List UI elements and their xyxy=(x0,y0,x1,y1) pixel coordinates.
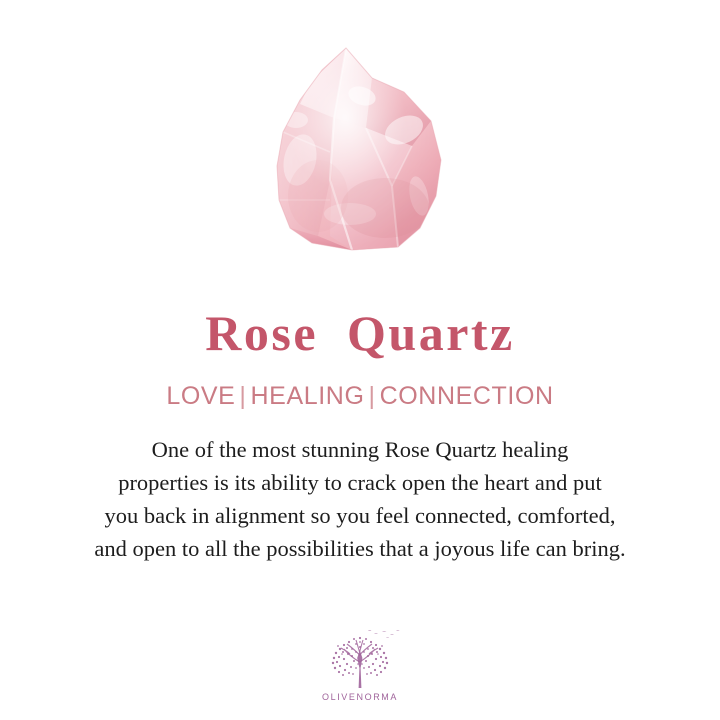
page-title: Rose Quartz xyxy=(205,282,515,358)
keyword-subtitle: LOVE|HEALING|CONNECTION xyxy=(166,358,553,409)
keyword-connection: CONNECTION xyxy=(380,382,554,410)
keyword-love: LOVE xyxy=(166,382,235,410)
description-paragraph: One of the most stunning Rose Quartz hea… xyxy=(30,409,690,565)
crystal-image-container xyxy=(0,0,720,282)
tree-icon xyxy=(312,628,408,690)
rose-quartz-info-card: Rose Quartz LOVE|HEALING|CONNECTION One … xyxy=(0,0,720,720)
keyword-separator-2: | xyxy=(365,382,380,410)
brand-logo: OLIVENORMA xyxy=(0,628,720,702)
description-line-3: you back in alignment so you feel connec… xyxy=(30,499,690,532)
description-line-2: properties is its ability to crack open … xyxy=(30,466,690,499)
description-line-1: One of the most stunning Rose Quartz hea… xyxy=(30,433,690,466)
brand-wordmark: OLIVENORMA xyxy=(322,693,398,702)
description-line-4: and open to all the possibilities that a… xyxy=(30,532,690,565)
keyword-healing: HEALING xyxy=(251,382,365,410)
rose-quartz-crystal-photo xyxy=(0,0,720,282)
keyword-separator-1: | xyxy=(235,382,250,410)
